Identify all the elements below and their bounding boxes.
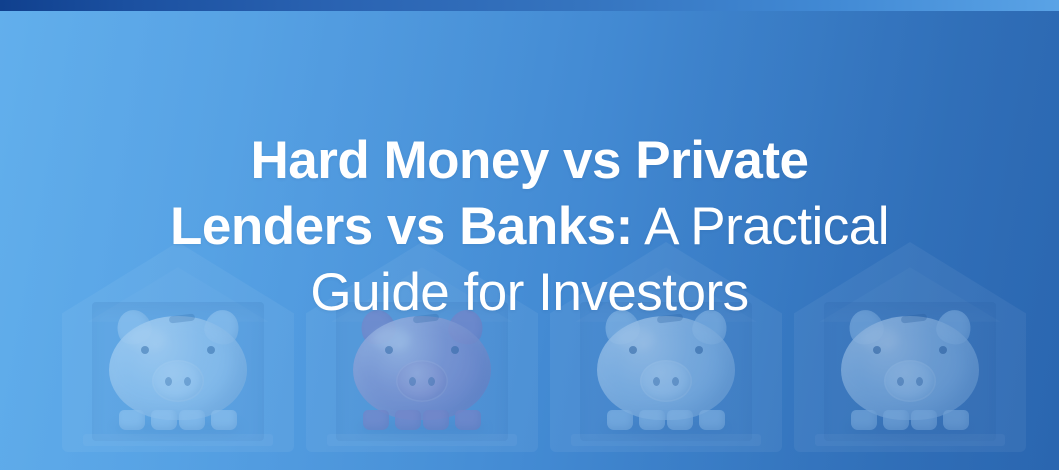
piggy-eye-left: [141, 346, 149, 354]
piggy-snout: [884, 360, 936, 402]
piggy-leg: [119, 410, 145, 430]
piggy-leg: [639, 410, 665, 430]
piggy-leg: [151, 410, 177, 430]
piggy-bank-4-icon: [835, 312, 985, 430]
piggy-leg: [395, 410, 421, 430]
piggy-bank-1-icon: [103, 312, 253, 430]
piggy-snout: [396, 360, 448, 402]
piggy-nostril-right: [672, 377, 679, 386]
piggy-eye-right: [939, 346, 947, 354]
background-artwork: [0, 0, 1059, 470]
piggy-leg: [851, 410, 877, 430]
piggy-eye-right: [207, 346, 215, 354]
piggy-snout: [640, 360, 692, 402]
piggy-leg: [911, 410, 937, 430]
piggy-eye-left: [385, 346, 393, 354]
piggy-eye-left: [629, 346, 637, 354]
piggy-leg: [667, 410, 693, 430]
piggy-nostril-left: [653, 377, 660, 386]
piggy-nostril-left: [165, 377, 172, 386]
piggy-leg: [179, 410, 205, 430]
hero-banner: Hard Money vs Private Lenders vs Banks: …: [0, 0, 1059, 470]
piggy-leg: [943, 410, 969, 430]
piggy-eye-right: [695, 346, 703, 354]
house-shelf-1: [62, 242, 294, 452]
piggy-nostril-left: [897, 377, 904, 386]
piggy-leg: [423, 410, 449, 430]
piggy-nostril-right: [184, 377, 191, 386]
piggy-eye-left: [873, 346, 881, 354]
piggy-bank-3-icon: [591, 312, 741, 430]
piggy-leg: [455, 410, 481, 430]
piggy-eye-right: [451, 346, 459, 354]
piggy-leg: [607, 410, 633, 430]
top-accent-strip: [0, 0, 1059, 11]
house-shelf-2: [306, 242, 538, 452]
piggy-snout: [152, 360, 204, 402]
piggy-nostril-left: [409, 377, 416, 386]
piggy-leg: [363, 410, 389, 430]
piggy-leg: [883, 410, 909, 430]
piggy-leg: [699, 410, 725, 430]
piggy-nostril-right: [916, 377, 923, 386]
piggy-bank-2-icon: [347, 312, 497, 430]
piggy-leg: [211, 410, 237, 430]
piggy-nostril-right: [428, 377, 435, 386]
house-shelf-4: [794, 242, 1026, 452]
house-shelf-3: [550, 242, 782, 452]
